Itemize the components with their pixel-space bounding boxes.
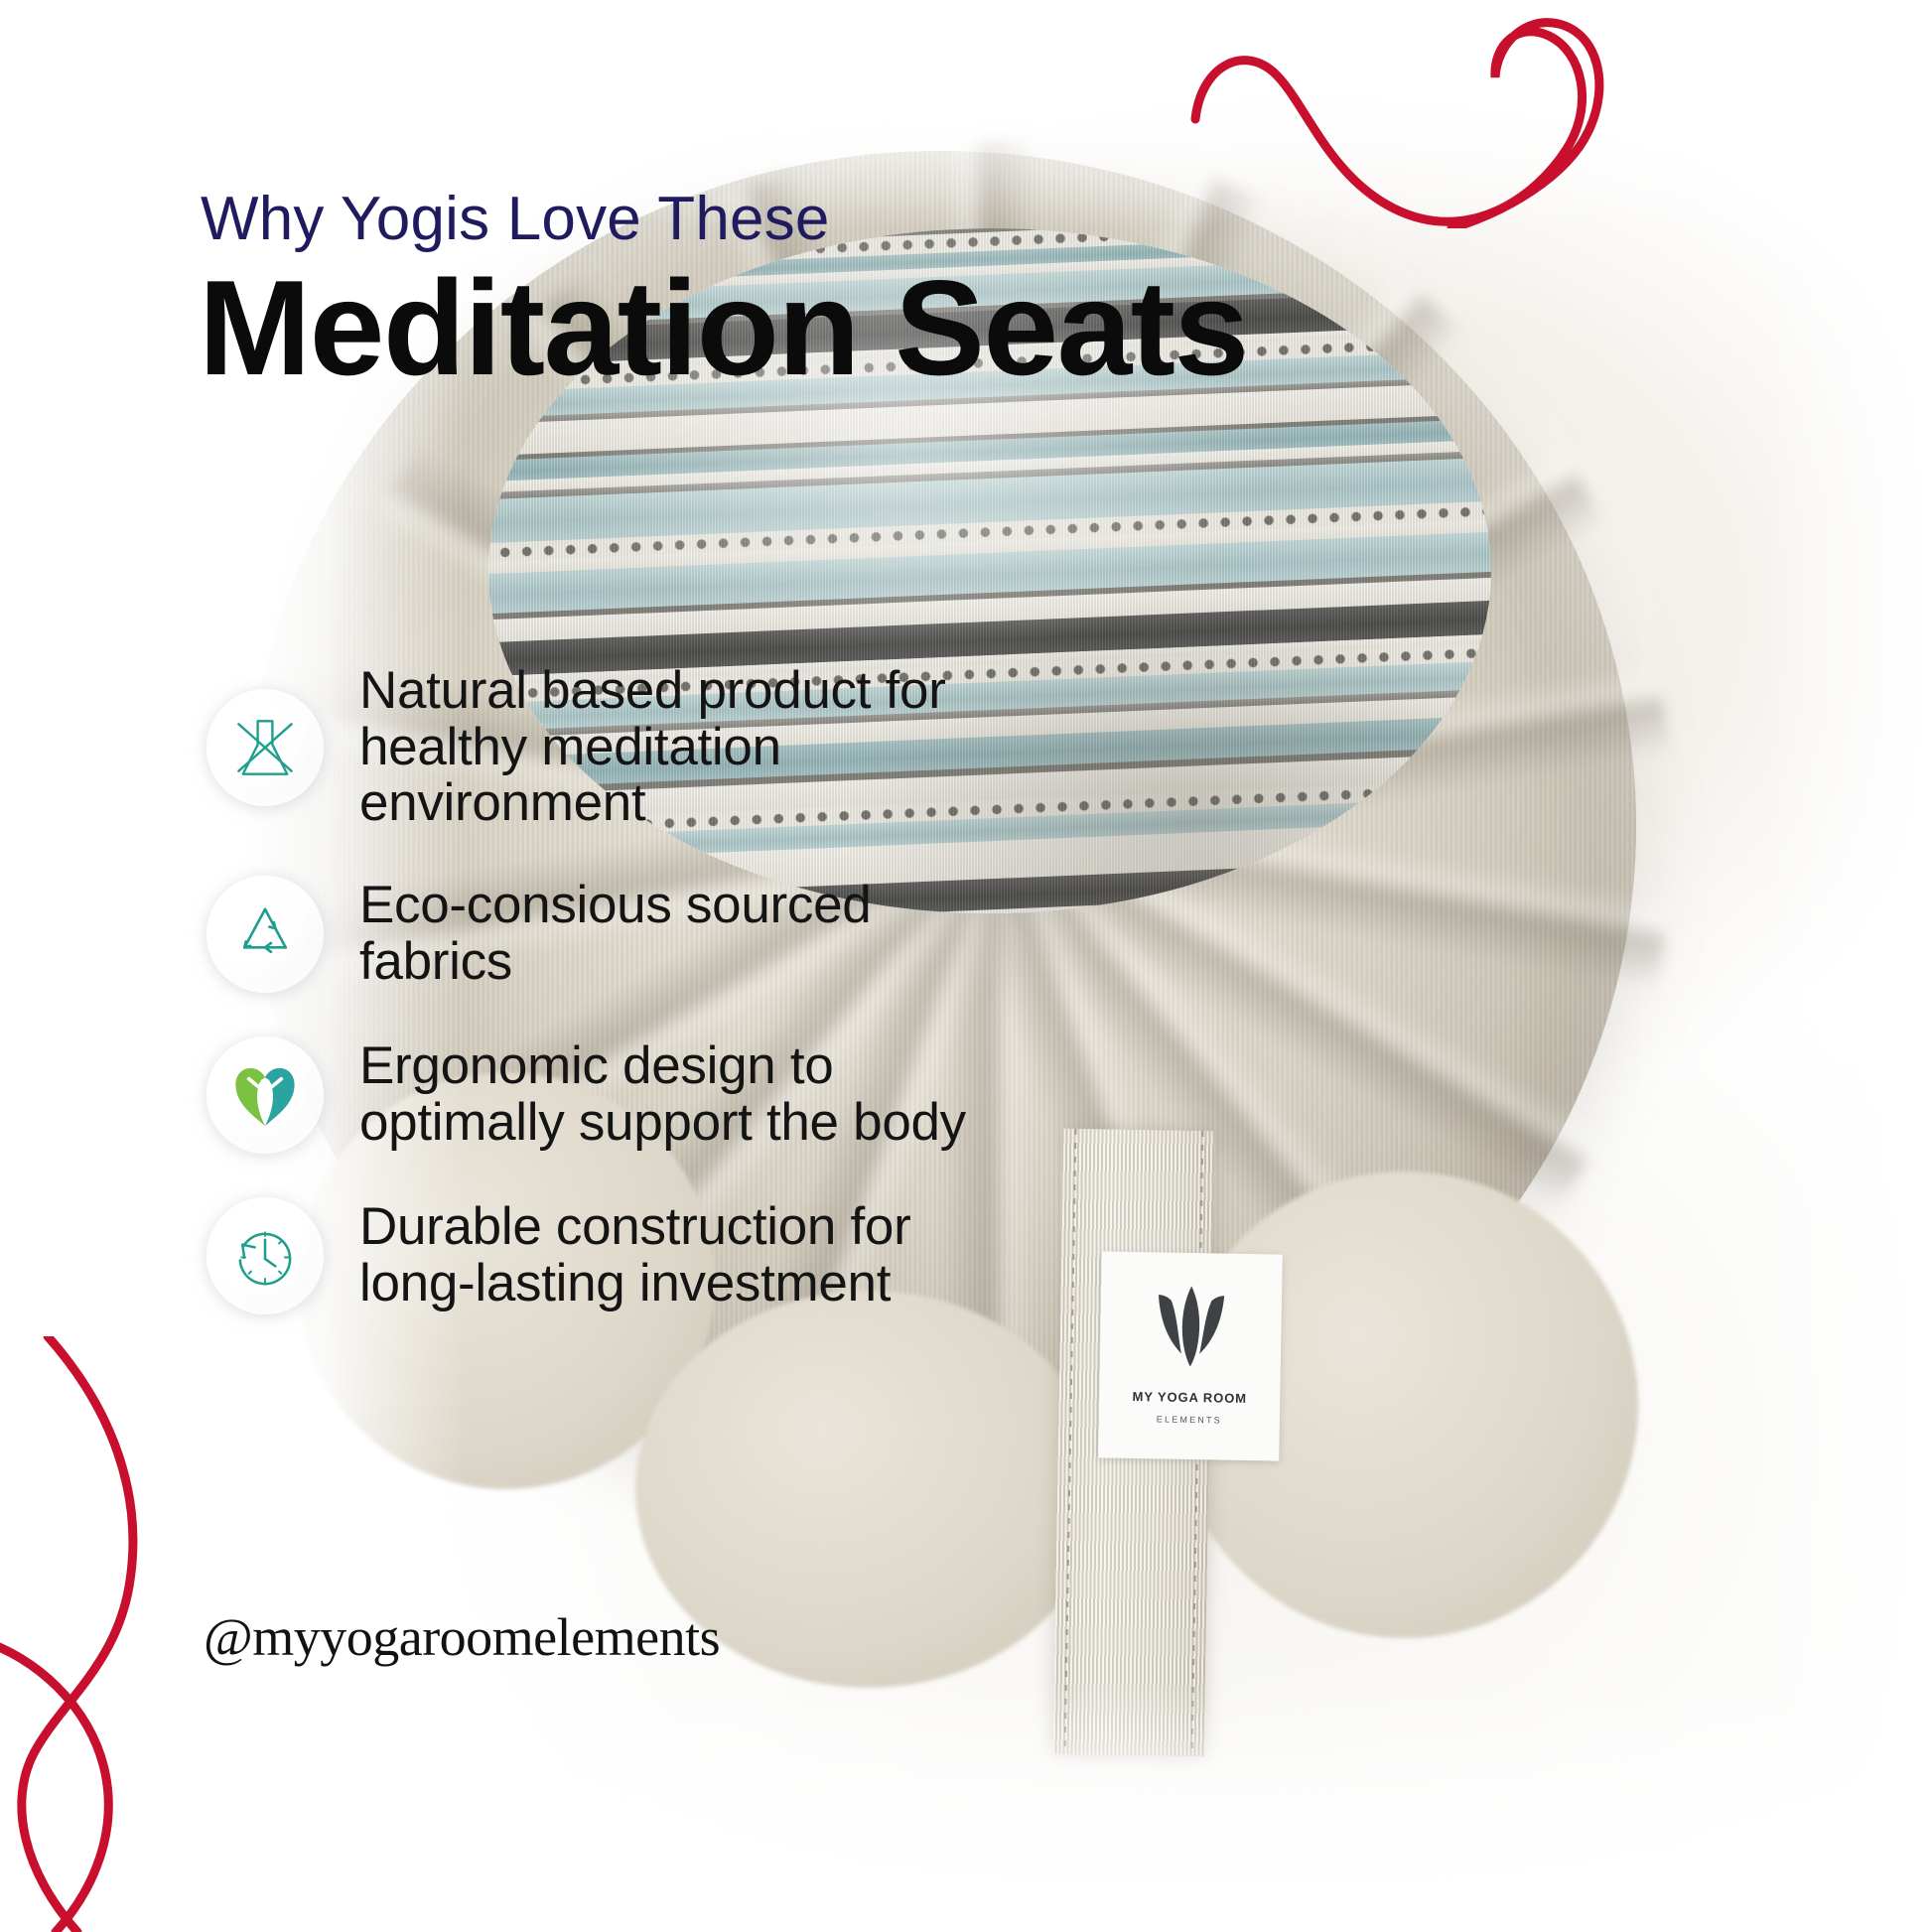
brand-tag-name: MY YOGA ROOM — [1132, 1389, 1247, 1406]
feature-list: Natural based product for healthy medita… — [207, 663, 1378, 1358]
no-chemicals-flask-icon — [228, 711, 302, 784]
feature-item-4: Durable construction for long-lasting in… — [207, 1197, 1378, 1314]
brand-tag-sub: ELEMENTS — [1157, 1414, 1222, 1425]
feature-icon-badge — [207, 876, 324, 993]
feature-icon-badge — [207, 1036, 324, 1154]
social-handle: @myyogaroomelements — [204, 1606, 720, 1668]
feature-icon-badge — [207, 689, 324, 806]
feature-item-3: Ergonomic design to optimally support th… — [207, 1036, 1378, 1154]
page-eyebrow: Why Yogis Love These — [201, 189, 830, 250]
feature-item-2: Eco-consious sourced fabrics — [207, 876, 1378, 993]
feature-item-1: Natural based product for healthy medita… — [207, 663, 1378, 832]
clock-arrow-icon — [228, 1219, 302, 1293]
feature-label: Durable construction for long-lasting in… — [359, 1199, 910, 1311]
recycle-icon — [228, 897, 302, 971]
page-title: Meditation Seats — [199, 260, 1248, 395]
feature-label: Natural based product for healthy medita… — [359, 663, 946, 832]
feature-icon-badge — [207, 1197, 324, 1314]
wellness-heart-person-icon — [228, 1058, 302, 1132]
feature-label: Eco-consious sourced fabrics — [359, 878, 871, 990]
feature-label: Ergonomic design to optimally support th… — [359, 1038, 966, 1151]
poster-canvas: MY YOGA ROOM ELEMENTS Why Yogis Love The… — [0, 0, 1932, 1932]
